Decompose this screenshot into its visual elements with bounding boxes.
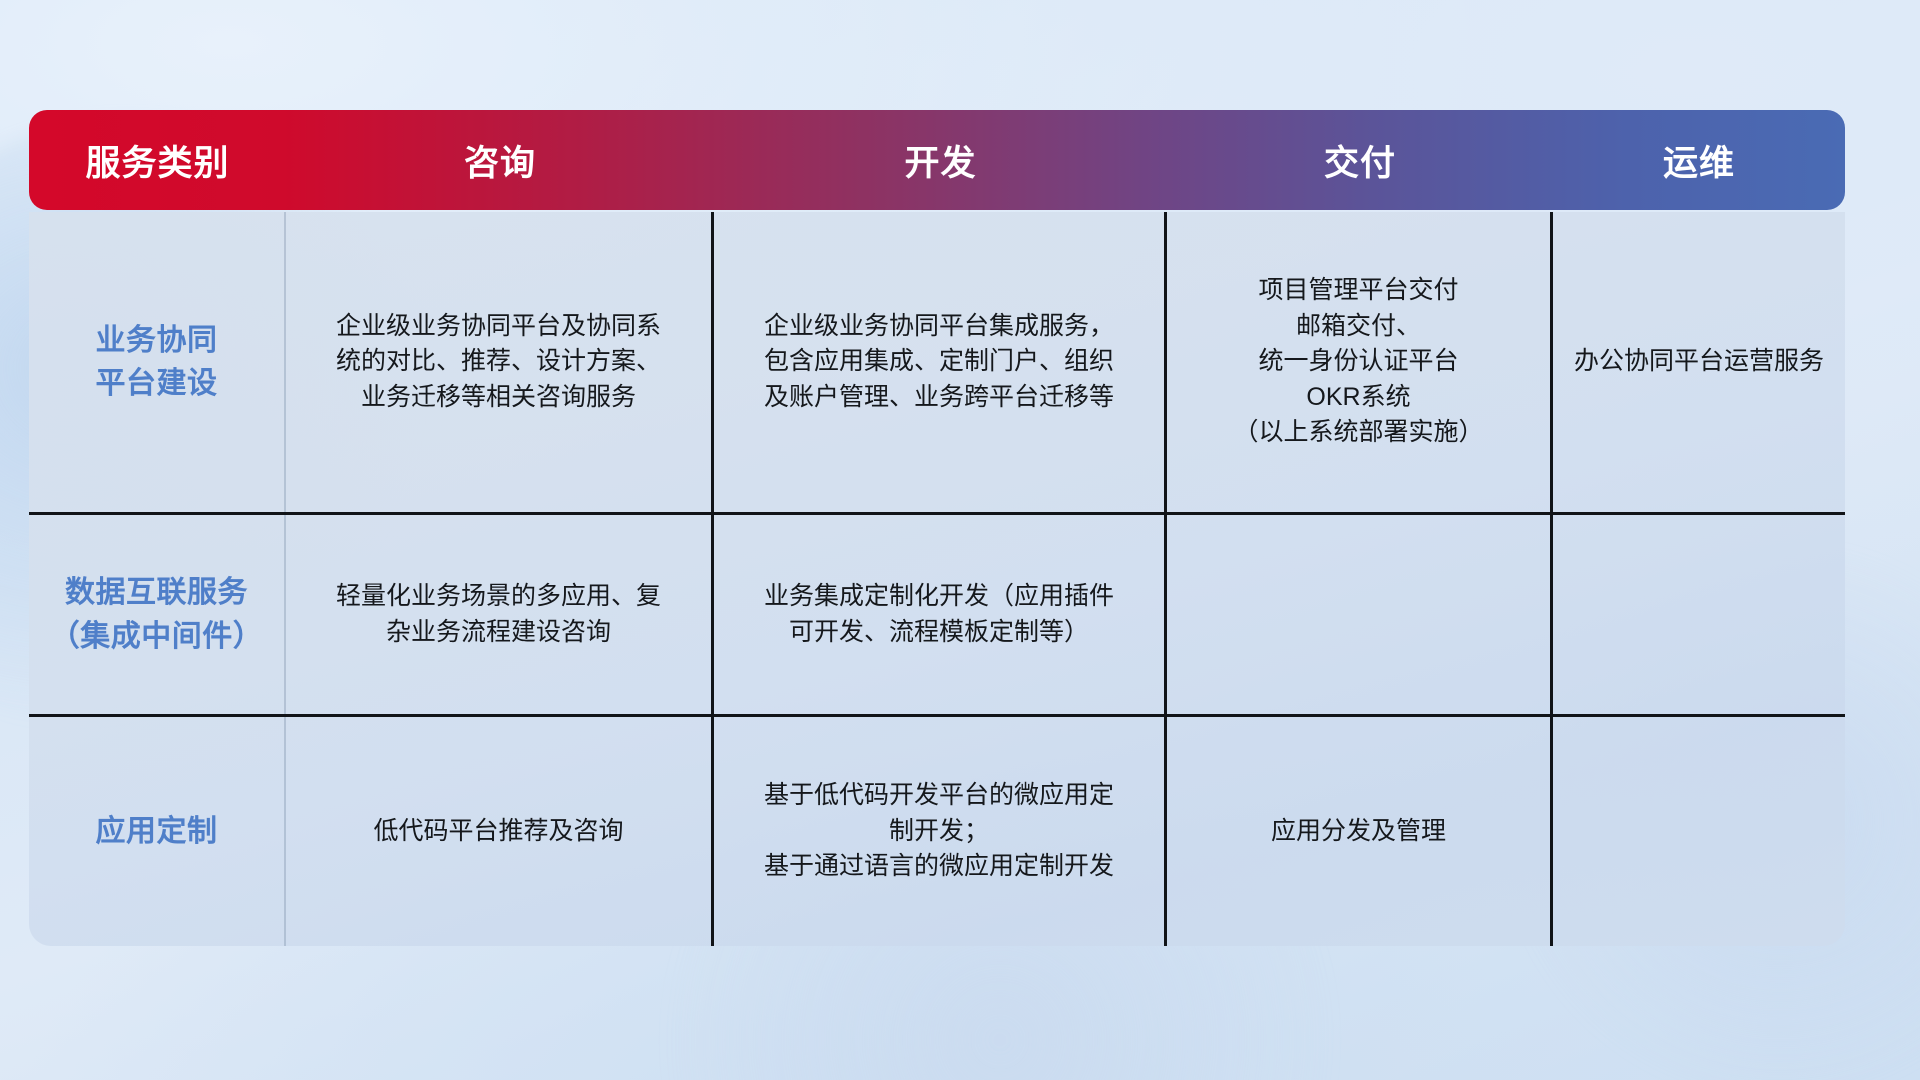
column-header-consulting: 咨询 bbox=[286, 135, 714, 186]
cell-operations bbox=[1553, 717, 1845, 946]
table-header-row: 服务类别 咨询 开发 交付 运维 bbox=[29, 110, 1845, 210]
cell-development: 企业级业务协同平台集成服务， 包含应用集成、定制门户、组织 及账户管理、业务跨平… bbox=[714, 212, 1167, 512]
column-header-operations: 运维 bbox=[1553, 135, 1845, 186]
cell-consulting: 低代码平台推荐及咨询 bbox=[286, 717, 714, 946]
table-row: 业务协同 平台建设 企业级业务协同平台及协同系 统的对比、推荐、设计方案、 业务… bbox=[29, 212, 1845, 512]
service-matrix-table: 服务类别 咨询 开发 交付 运维 业务协同 平台建设 企业级业务协同平台及协同系… bbox=[29, 110, 1845, 946]
cell-delivery bbox=[1167, 515, 1553, 714]
table-body: 业务协同 平台建设 企业级业务协同平台及协同系 统的对比、推荐、设计方案、 业务… bbox=[29, 212, 1845, 946]
cell-operations: 办公协同平台运营服务 bbox=[1553, 212, 1845, 512]
table-row: 应用定制 低代码平台推荐及咨询 基于低代码开发平台的微应用定 制开发； 基于通过… bbox=[29, 714, 1845, 946]
row-category-label: 数据互联服务 （集成中间件） bbox=[29, 515, 286, 714]
row-category-label: 应用定制 bbox=[29, 717, 286, 946]
column-header-service-category: 服务类别 bbox=[29, 135, 286, 186]
cell-consulting: 轻量化业务场景的多应用、复 杂业务流程建设咨询 bbox=[286, 515, 714, 714]
cell-development: 基于低代码开发平台的微应用定 制开发； 基于通过语言的微应用定制开发 bbox=[714, 717, 1167, 946]
column-header-delivery: 交付 bbox=[1167, 135, 1553, 186]
table-row: 数据互联服务 （集成中间件） 轻量化业务场景的多应用、复 杂业务流程建设咨询 业… bbox=[29, 512, 1845, 714]
cell-operations bbox=[1553, 515, 1845, 714]
column-header-development: 开发 bbox=[714, 135, 1167, 186]
cell-development: 业务集成定制化开发（应用插件 可开发、流程模板定制等） bbox=[714, 515, 1167, 714]
cell-consulting: 企业级业务协同平台及协同系 统的对比、推荐、设计方案、 业务迁移等相关咨询服务 bbox=[286, 212, 714, 512]
cell-delivery: 项目管理平台交付 邮箱交付、 统一身份认证平台 OKR系统 （以上系统部署实施） bbox=[1167, 212, 1553, 512]
cell-delivery: 应用分发及管理 bbox=[1167, 717, 1553, 946]
row-category-label: 业务协同 平台建设 bbox=[29, 212, 286, 512]
